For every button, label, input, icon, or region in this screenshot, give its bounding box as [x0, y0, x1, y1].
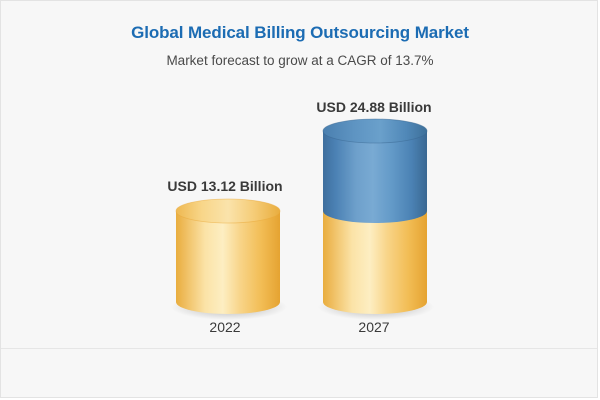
value-label-2022: USD 13.12 Billion [119, 178, 331, 194]
bar-cylinder-2027 [323, 119, 427, 314]
bar-cylinder-2022 [176, 199, 280, 314]
value-label-2027: USD 24.88 Billion [268, 99, 480, 115]
chart-card: Global Medical Billing Outsourcing Marke… [0, 0, 598, 398]
footer: https://www.researchandmarkets.com/repor… [1, 349, 598, 398]
chart-area: Global Medical Billing Outsourcing Marke… [1, 1, 598, 348]
axis-label-2027: 2027 [268, 319, 480, 335]
cylinder-bars [1, 1, 598, 348]
